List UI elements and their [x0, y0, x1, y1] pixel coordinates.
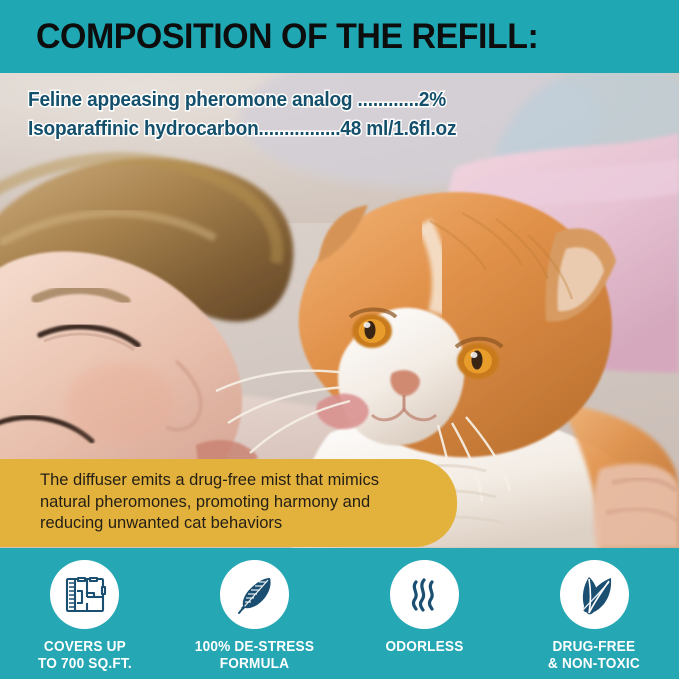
- feature-label-drugfree: DRUG-FREE& NON-TOXIC: [548, 639, 640, 673]
- feather-icon: [233, 573, 277, 617]
- feature-badge-coverage: [50, 560, 119, 629]
- header-band: COMPOSITION OF THE REFILL:: [0, 0, 679, 73]
- feature-strip: COVERS UPTO 700 SQ.FT.: [0, 548, 679, 679]
- feature-destress: 100% DE-STRESSFORMULA: [170, 560, 340, 673]
- composition-line-1: Feline appeasing pheromone analog ......…: [28, 85, 456, 114]
- feature-odorless: ODORLESS: [340, 560, 510, 656]
- smoke-waves-icon: [402, 573, 446, 617]
- composition-line-2: Isoparaffinic hydrocarbon...............…: [28, 114, 456, 143]
- composition-text-block: Feline appeasing pheromone analog ......…: [28, 85, 489, 143]
- benefit-callout: The diffuser emits a drug-free mist that…: [0, 459, 457, 547]
- infographic-page: COMPOSITION OF THE REFILL:: [0, 0, 679, 679]
- page-title: COMPOSITION OF THE REFILL:: [36, 17, 538, 57]
- feature-drugfree: DRUG-FREE& NON-TOXIC: [509, 560, 679, 673]
- feature-badge-drugfree: [560, 560, 629, 629]
- feature-badge-odorless: [390, 560, 459, 629]
- feature-label-odorless: ODORLESS: [385, 639, 463, 656]
- benefit-callout-text: The diffuser emits a drug-free mist that…: [40, 470, 411, 535]
- feature-label-coverage: COVERS UPTO 700 SQ.FT.: [38, 639, 132, 673]
- leaves-icon: [571, 572, 617, 618]
- feature-label-destress: 100% DE-STRESSFORMULA: [195, 639, 314, 673]
- hero-photo: Feline appeasing pheromone analog ......…: [0, 73, 679, 548]
- floor-plan-icon: [63, 573, 107, 617]
- feature-coverage: COVERS UPTO 700 SQ.FT.: [0, 560, 170, 673]
- feature-badge-destress: [220, 560, 289, 629]
